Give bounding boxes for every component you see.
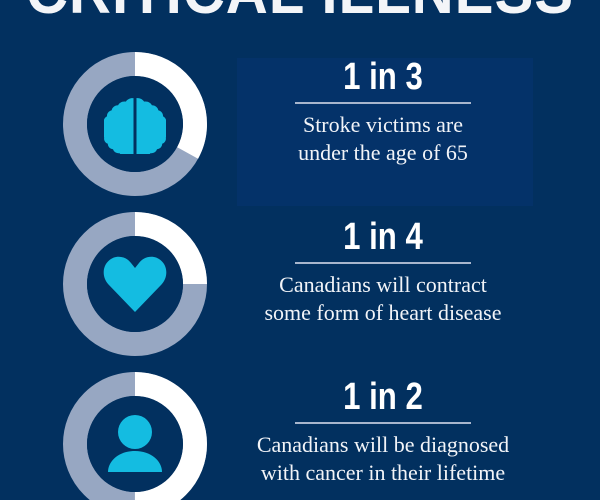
stat-divider: [295, 422, 471, 424]
stat-row: 1 in 2 Canadians will be diagnosed with …: [0, 365, 600, 500]
stat-value: 1 in 3: [260, 55, 506, 99]
donut-svg: [63, 212, 207, 356]
stat-description: Stroke victims are under the age of 65: [233, 111, 533, 167]
stat-description: Canadians will contract some form of hea…: [233, 271, 533, 327]
stat-description: Canadians will be diagnosed with cancer …: [233, 431, 533, 487]
stat-divider: [295, 262, 471, 264]
donut-chart: [63, 212, 207, 356]
stat-text-block: 1 in 2 Canadians will be diagnosed with …: [233, 375, 533, 487]
infographic-canvas: CRITICAL ILLNESS 1 in 3 Stroke: [0, 0, 600, 500]
donut-hole: [87, 396, 183, 492]
donut-hole: [87, 236, 183, 332]
donut-chart: [63, 372, 207, 500]
stat-row: 1 in 4 Canadians will contract some form…: [0, 205, 600, 365]
stat-value: 1 in 2: [260, 375, 506, 419]
donut-svg: [63, 52, 207, 196]
stat-divider: [295, 102, 471, 104]
page-title: CRITICAL ILLNESS: [18, 0, 582, 30]
stat-text-block: 1 in 3 Stroke victims are under the age …: [233, 55, 533, 167]
stat-text-block: 1 in 4 Canadians will contract some form…: [233, 215, 533, 327]
donut-svg: [63, 372, 207, 500]
stat-row: 1 in 3 Stroke victims are under the age …: [0, 45, 600, 205]
donut-hole: [87, 76, 183, 172]
donut-chart: [63, 52, 207, 196]
stat-value: 1 in 4: [260, 215, 506, 259]
